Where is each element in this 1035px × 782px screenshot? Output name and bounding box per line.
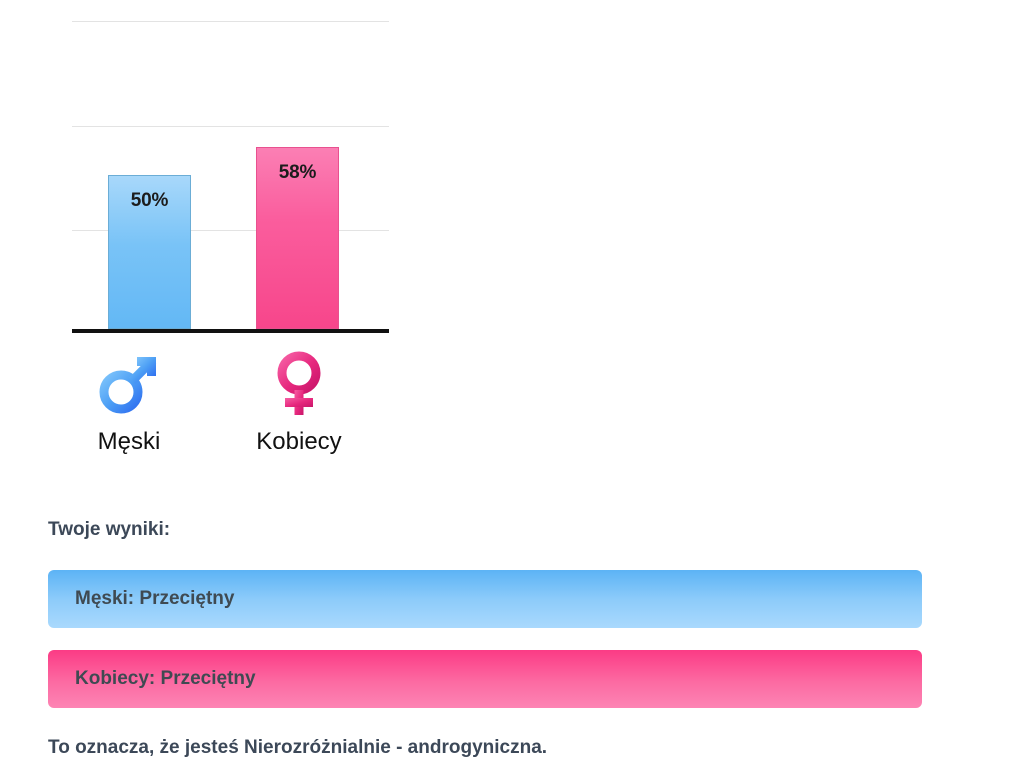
result-label-male: Męski: Przeciętny [48,588,234,610]
bar-value-female: 58% [257,148,338,184]
results-heading: Twoje wyniki: [48,517,170,543]
conclusion-text: To oznacza, że jesteś Nierozróżnialnie -… [48,735,547,761]
bar-value-male: 50% [109,176,190,212]
result-bar-female: Kobiecy: Przeciętny [48,650,922,708]
category-female: Kobiecy [234,345,364,457]
category-male: Męski [64,345,194,457]
bar-male: 50% [108,175,191,329]
chart-gridline [72,126,389,127]
result-label-female: Kobiecy: Przeciętny [48,668,256,690]
chart-category-labels: Męski Kobiecy [72,345,389,475]
gender-bar-chart: 50% 58% [72,0,389,334]
male-gender-icon [64,345,194,421]
chart-x-axis [72,329,389,333]
chart-gridline [72,21,389,22]
category-label-male: Męski [64,427,194,457]
result-bar-male: Męski: Przeciętny [48,570,922,628]
female-gender-icon [234,345,364,421]
bar-female: 58% [256,147,339,329]
category-label-female: Kobiecy [234,427,364,457]
